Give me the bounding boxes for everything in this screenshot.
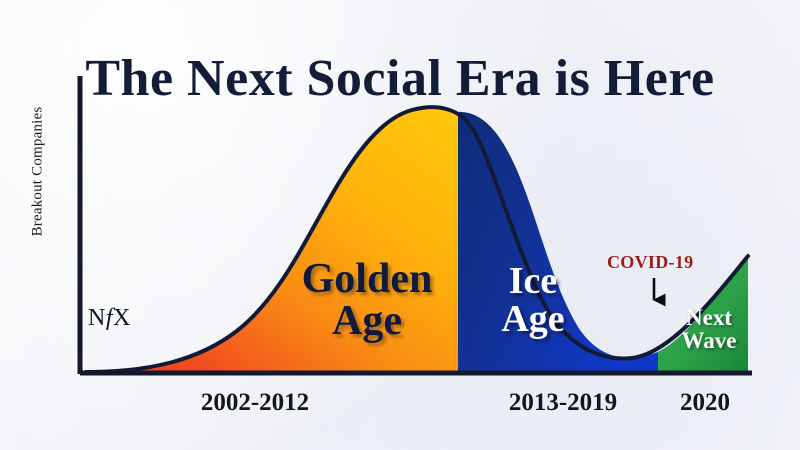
region-label-golden-age-line2: Age (272, 300, 462, 342)
region-label-golden-age-line1: Golden (272, 258, 462, 300)
region-label-ice-age-line1: Ice (468, 262, 598, 300)
region-label-next-wave-line1: Next (668, 306, 750, 329)
covid-annotation-label: COVID-19 (607, 252, 693, 273)
x-axis-tick-2020: 2020 (660, 389, 750, 417)
x-axis-tick-2002-2012: 2002-2012 (160, 389, 350, 417)
nfx-logo: NfX (88, 305, 131, 332)
y-axis-label: Breakout Companies (30, 72, 47, 272)
region-label-ice-age-line2: Age (468, 300, 598, 338)
region-label-golden-age: Golden Age (272, 258, 462, 342)
nfx-logo-n: N (88, 305, 106, 331)
slide-canvas: The Next Social Era is Here (0, 0, 800, 450)
breakout-companies-area-chart (0, 0, 800, 450)
nfx-logo-f: f (106, 305, 113, 331)
region-label-next-wave-line2: Wave (668, 329, 750, 352)
x-axis-tick-2013-2019: 2013-2019 (478, 389, 648, 417)
region-label-next-wave: Next Wave (668, 306, 750, 352)
nfx-logo-x: X (113, 305, 131, 331)
region-label-ice-age: Ice Age (468, 262, 598, 338)
